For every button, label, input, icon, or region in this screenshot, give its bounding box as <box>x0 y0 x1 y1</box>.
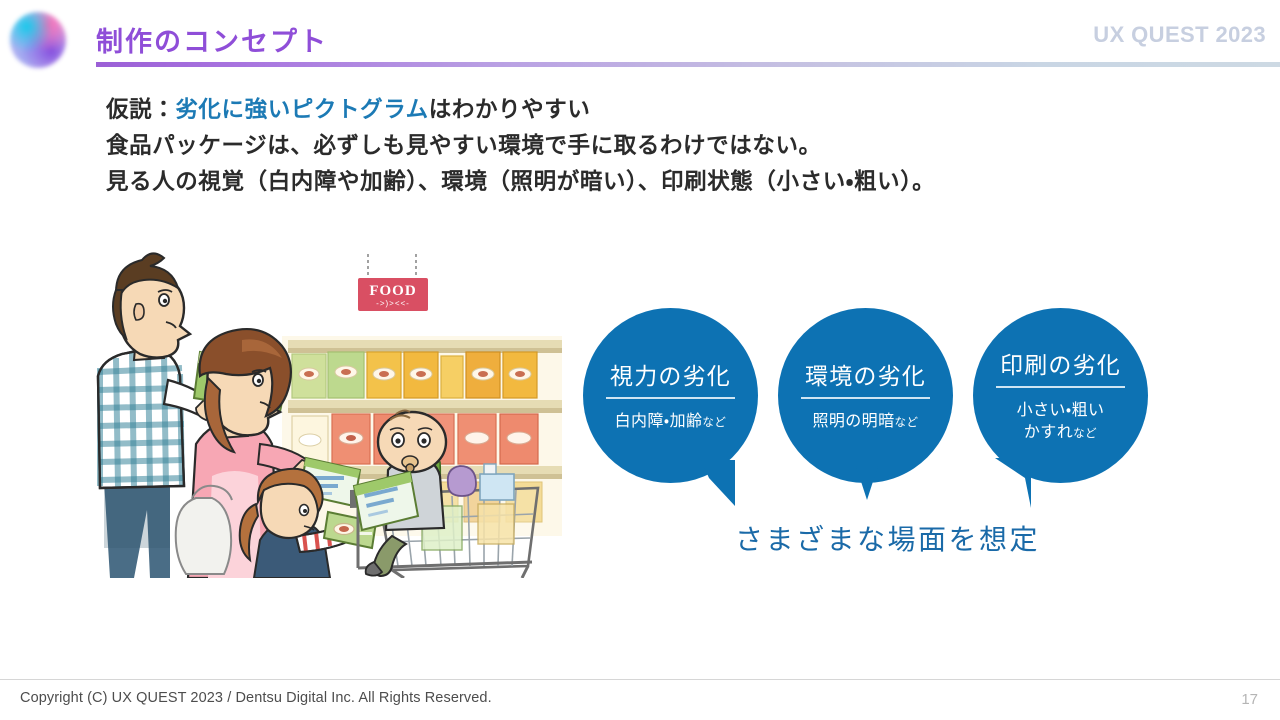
bubble-sub-main: 白内障・加齢 <box>615 413 703 430</box>
svg-text:FOOD: FOOD <box>369 283 416 299</box>
copy-line-2: 食品パッケージは、必ずしも見やすい環境で手に取るわけではない。 <box>106 128 1106 164</box>
bubble-sub-main: 照明の明暗 <box>812 413 894 430</box>
page-title: 制作のコンセプト <box>96 20 328 59</box>
bubble-content: 印刷の劣化 小さい・粗い かすれなど <box>973 308 1148 483</box>
footer-copyright: Copyright (C) UX QUEST 2023 / Dentsu Dig… <box>20 690 492 706</box>
bubble-sub-small: など <box>1073 428 1097 440</box>
copy-line-1-highlight: 劣化に強いピクトグラム <box>175 97 428 122</box>
brand-label: UX QUEST 2023 <box>1093 22 1266 48</box>
copy-line-1-prefix: 仮説： <box>106 97 175 122</box>
bubble-title: 環境の劣化 <box>801 357 930 399</box>
bubble-sub-main2: かすれなど <box>1017 422 1105 445</box>
bubble-sub-main: 小さい・粗い <box>1017 400 1105 422</box>
footer-divider <box>0 679 1280 680</box>
bubble-sub-small: など <box>702 417 726 429</box>
page-number: 17 <box>1241 691 1258 708</box>
bubble-print-degradation: 印刷の劣化 小さい・粗い かすれなど <box>973 308 1148 483</box>
bubble-content: 環境の劣化 照明の明暗など <box>778 308 953 483</box>
slide-root: 制作のコンセプト UX QUEST 2023 仮説：劣化に強いピクトグラムはわか… <box>0 0 1280 720</box>
bubble-sub-main2-text: かすれ <box>1024 424 1073 441</box>
bubbles-caption: さまざまな場面を想定 <box>575 518 1200 558</box>
svg-text:->)><<-: ->)><<- <box>376 299 410 308</box>
food-sign: FOOD ->)><<- <box>358 254 428 311</box>
copy-line-1-suffix: はわかりやすい <box>429 97 591 122</box>
gradient-orb-logo-icon <box>10 12 66 68</box>
copy-line-1: 仮説：劣化に強いピクトグラムはわかりやすい <box>106 92 1106 128</box>
bubble-sub-small: など <box>895 417 919 429</box>
body-copy-block: 仮説：劣化に強いピクトグラムはわかりやすい 食品パッケージは、必ずしも見やすい環… <box>106 92 1106 200</box>
header-divider <box>96 62 1280 67</box>
bubble-vision-degradation: 視力の劣化 白内障・加齢など <box>583 308 758 483</box>
bubble-title: 視力の劣化 <box>606 357 735 399</box>
concept-bubbles: 視力の劣化 白内障・加齢など 環境の劣化 照明の明暗など 印刷の劣化 小さい・粗… <box>575 300 1200 585</box>
bubble-content: 視力の劣化 白内障・加齢など <box>583 308 758 483</box>
supermarket-shoppers-illustration: FOOD ->)><<- <box>92 248 562 578</box>
bubble-title: 印刷の劣化 <box>996 346 1125 388</box>
bubble-subtitle: 白内障・加齢など <box>615 411 727 434</box>
slide-header: 制作のコンセプト UX QUEST 2023 <box>0 0 1280 72</box>
copy-line-3: 見る人の視覚（白内障や加齢）、環境（照明が暗い）、印刷状態（小さい・粗い）。 <box>106 164 1106 200</box>
bubble-subtitle: 小さい・粗い かすれなど <box>1017 400 1105 445</box>
bubble-environment-degradation: 環境の劣化 照明の明暗など <box>778 308 953 483</box>
bubble-subtitle: 照明の明暗など <box>812 411 918 434</box>
